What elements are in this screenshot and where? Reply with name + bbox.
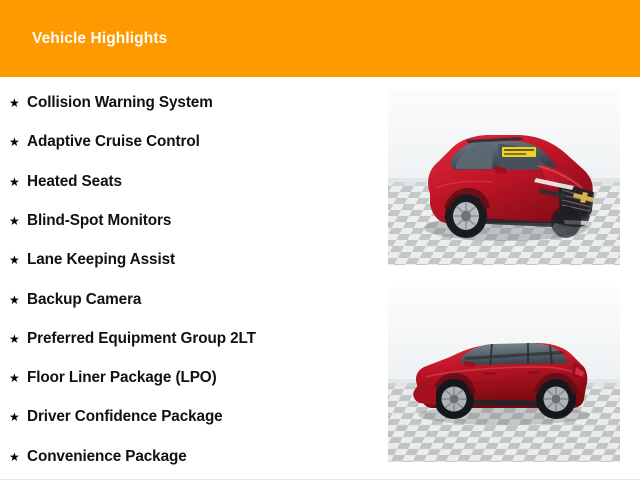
highlight-label: Lane Keeping Assist — [27, 252, 175, 267]
star-icon: ★ — [9, 215, 27, 227]
highlight-label: Backup Camera — [27, 292, 141, 307]
panel-header: Vehicle Highlights — [0, 0, 640, 77]
list-item: ★Preferred Equipment Group 2LT — [9, 331, 256, 351]
list-item: ★Floor Liner Package (LPO) — [9, 370, 217, 390]
star-icon: ★ — [9, 254, 27, 266]
star-icon: ★ — [9, 136, 27, 148]
highlight-label: Preferred Equipment Group 2LT — [27, 331, 256, 346]
list-item: ★Collision Warning System — [9, 95, 213, 115]
highlight-label: Collision Warning System — [27, 95, 213, 110]
list-item: ★Lane Keeping Assist — [9, 252, 175, 272]
list-item: ★Convenience Package — [9, 449, 187, 469]
vehicle-highlights-list: ★Collision Warning System★Adaptive Cruis… — [0, 77, 380, 479]
star-icon: ★ — [9, 333, 27, 345]
list-item: ★Blind-Spot Monitors — [9, 213, 171, 233]
highlight-label: Blind-Spot Monitors — [27, 213, 171, 228]
list-item: ★Heated Seats — [9, 174, 122, 194]
page-title: Vehicle Highlights — [32, 31, 167, 47]
list-item: ★Driver Confidence Package — [9, 409, 223, 429]
highlight-label: Floor Liner Package (LPO) — [27, 370, 217, 385]
star-icon: ★ — [9, 97, 27, 109]
star-icon: ★ — [9, 411, 27, 423]
vehicle-photo-side-profile[interactable] — [388, 287, 620, 462]
list-item: ★Backup Camera — [9, 292, 141, 312]
highlight-label: Adaptive Cruise Control — [27, 134, 200, 149]
list-item: ★Adaptive Cruise Control — [9, 134, 200, 154]
highlight-label: Heated Seats — [27, 174, 122, 189]
highlight-label: Driver Confidence Package — [27, 409, 223, 424]
star-icon: ★ — [9, 176, 27, 188]
panel-body: ★Collision Warning System★Adaptive Cruis… — [0, 77, 640, 479]
vehicle-photo-front-three-quarter[interactable] — [388, 90, 620, 265]
highlight-label: Convenience Package — [27, 449, 187, 464]
star-icon: ★ — [9, 372, 27, 384]
star-icon: ★ — [9, 451, 27, 463]
star-icon: ★ — [9, 294, 27, 306]
vehicle-highlights-panel: Vehicle Highlights ★Collision Warning Sy… — [0, 0, 640, 480]
